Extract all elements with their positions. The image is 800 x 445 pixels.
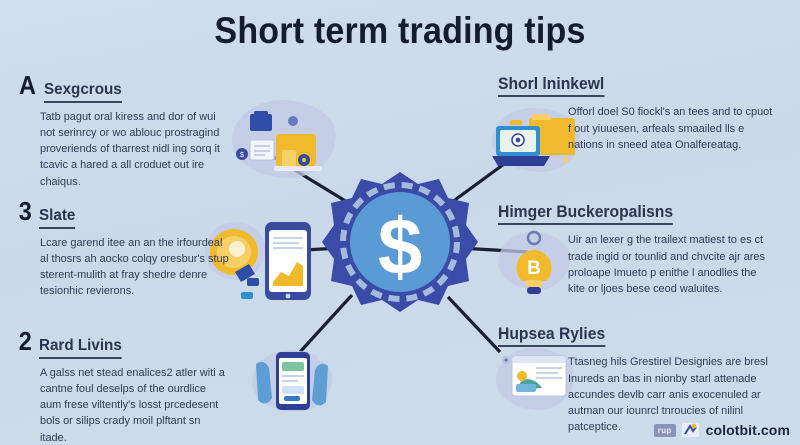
page-title: Short term trading tips — [32, 10, 768, 52]
tip-marker: 3 — [19, 198, 32, 224]
tip-block-right-2: Himger Buckeropalisns Uir an lexer g the… — [488, 204, 788, 297]
tip-heading: Shorl lninkewl — [498, 76, 604, 97]
tip-block-right-1: Shorl lninkewl Offorl doel S0 fiockl's a… — [488, 76, 788, 153]
tip-heading-row: A Sexgcrous — [18, 72, 240, 103]
tip-marker: 2 — [19, 328, 32, 354]
infographic-canvas: Short term trading tips $ — [0, 0, 800, 445]
watermark-badge: rup — [654, 424, 676, 437]
tip-body: Tatb pagut oral kiress and dor of wui no… — [40, 109, 230, 190]
colotbit-logo-icon — [682, 422, 700, 438]
tip-heading: Hupsea Rylies — [498, 326, 605, 347]
tip-block-left-3: 2 Rard Livins A galss net stead enalices… — [18, 328, 240, 445]
office-desk-illustration: $ — [236, 104, 334, 178]
tip-body: Uir an lexer g the trailext matiest to e… — [568, 232, 775, 297]
tip-body: Lcare garend itee an an the irfourdeal a… — [40, 235, 230, 300]
hands-holding-phone-illustration — [248, 348, 340, 418]
tip-heading-row: 2 Rard Livins — [18, 328, 240, 359]
tip-heading: Rard Livins — [39, 338, 122, 359]
watermark-text: colotbit.com — [706, 422, 790, 438]
watermark: rup colotbit.com — [654, 422, 790, 438]
dollar-badge: $ — [322, 170, 478, 326]
tip-heading: Sexgcrous — [44, 82, 122, 103]
tip-block-left-2: 3 Slate Lcare garend itee an an the irfo… — [18, 198, 240, 300]
tip-block-right-3: Hupsea Rylies Ttasneg hils Grestirel Des… — [488, 326, 788, 435]
tip-body: Offorl doel S0 fiockl's an tees and to c… — [568, 104, 775, 153]
tip-heading: Himger Buckeropalisns — [498, 204, 673, 225]
tip-marker: A — [19, 72, 36, 98]
tip-heading: Slate — [39, 208, 75, 229]
tip-body: A galss net stead enalices2 atler witi a… — [40, 365, 230, 445]
svg-text:$: $ — [240, 152, 244, 159]
tip-block-left-1: A Sexgcrous Tatb pagut oral kiress and d… — [18, 72, 240, 190]
tip-heading-row: 3 Slate — [18, 198, 240, 229]
dollar-symbol: $ — [378, 202, 423, 291]
